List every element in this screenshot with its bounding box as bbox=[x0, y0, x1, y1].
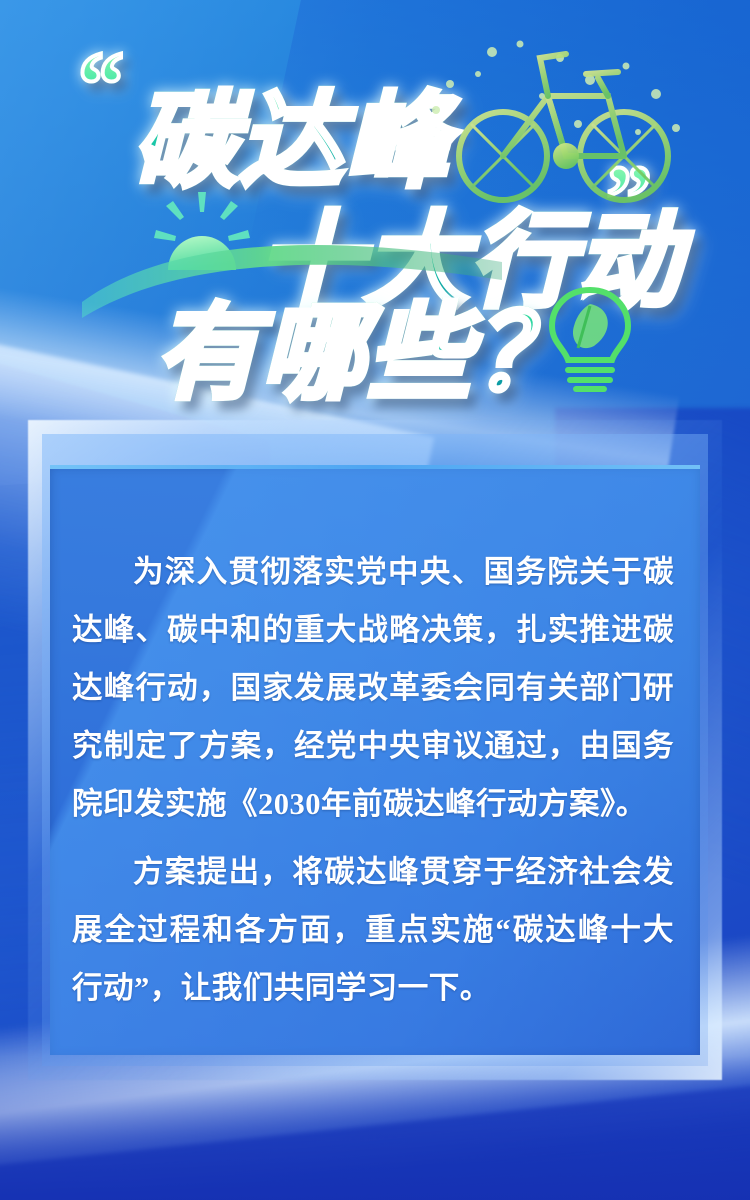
poster-header: “ ” 碳达峰 十大行动 有哪些？ bbox=[0, 0, 750, 415]
content-card-frame: 为深入贯彻落实党中央、国务院关于碳达峰、碳中和的重大战略决策，扎实推进碳达峰行动… bbox=[28, 420, 722, 1080]
content-card: 为深入贯彻落实党中央、国务院关于碳达峰、碳中和的重大战略决策，扎实推进碳达峰行动… bbox=[50, 465, 700, 1055]
paragraph-2: 方案提出，将碳达峰贯穿于经济社会发展全过程和各方面，重点实施“碳达峰十大行动”，… bbox=[72, 843, 674, 1017]
poster-root: “ ” 碳达峰 十大行动 有哪些？ 为深入贯彻落实党中央、国务院关于碳达峰、碳中… bbox=[0, 0, 750, 1200]
background-diagonal-bottom-dark bbox=[0, 1071, 750, 1200]
quote-open-mark: “ bbox=[78, 38, 124, 130]
paragraph-1: 为深入贯彻落实党中央、国务院关于碳达峰、碳中和的重大战略决策，扎实推进碳达峰行动… bbox=[72, 543, 674, 833]
hill-curve-icon bbox=[82, 228, 502, 318]
bicycle-icon bbox=[448, 38, 678, 208]
lightbulb-leaf-icon bbox=[538, 282, 642, 394]
card-body: 为深入贯彻落实党中央、国务院关于碳达峰、碳中和的重大战略决策，扎实推进碳达峰行动… bbox=[50, 465, 700, 1017]
